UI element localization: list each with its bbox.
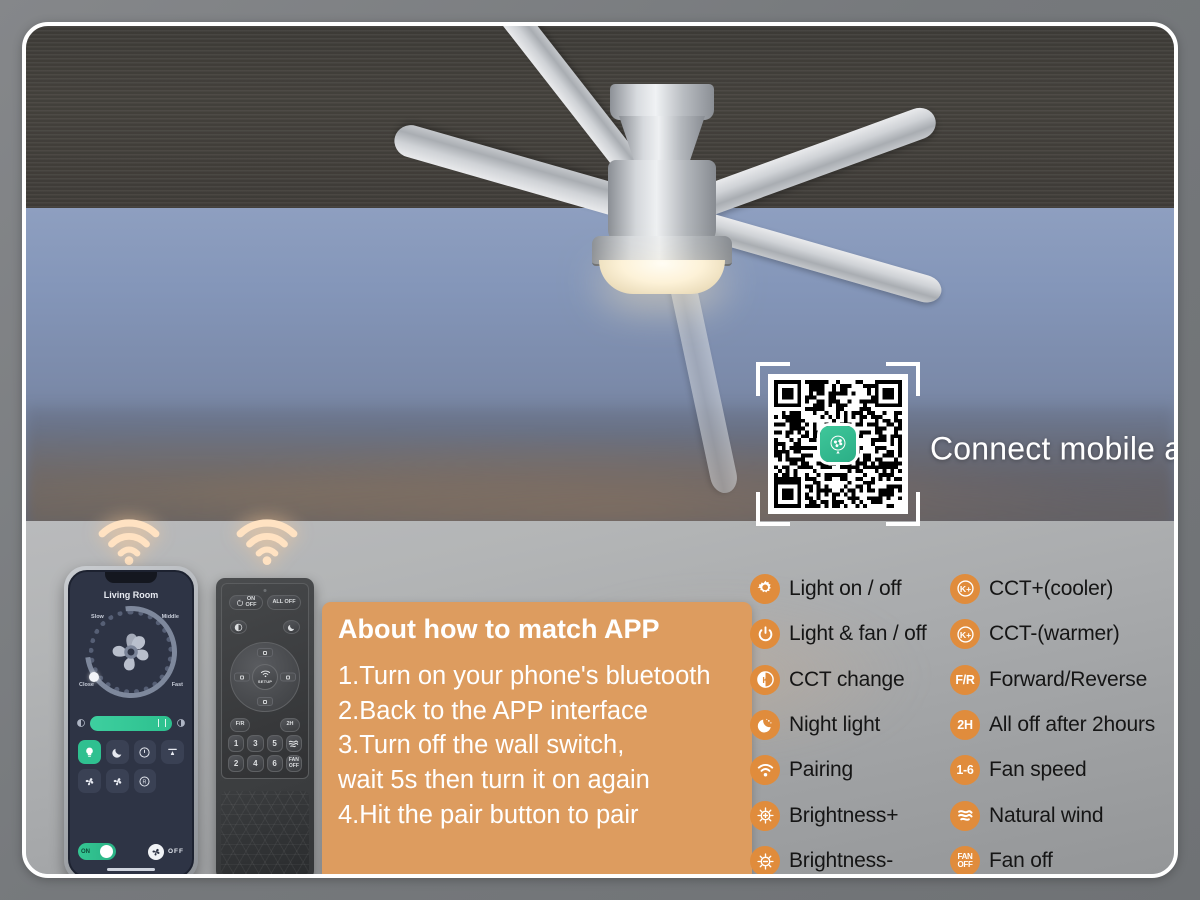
remote-left-key[interactable] bbox=[234, 673, 250, 682]
legend-icon-glyph: 1-6 bbox=[956, 763, 973, 777]
legend-item-forward-reverse: F/R Forward/Reverse bbox=[950, 657, 1178, 702]
two-hour-timer-icon: 2H bbox=[950, 710, 980, 740]
room-title: Living Room bbox=[70, 590, 192, 600]
legend-label: Fan off bbox=[989, 849, 1053, 873]
legend-item-cct-change: K CCT change bbox=[750, 657, 946, 702]
legend-label: Brightness+ bbox=[789, 804, 898, 828]
dial-label-fast: Fast bbox=[172, 682, 183, 688]
instructions-title: About how to match APP bbox=[338, 614, 736, 645]
legend-icon-glyph: 2H bbox=[957, 718, 972, 732]
instruction-step: 2.Back to the APP interface bbox=[338, 694, 736, 729]
remote-num-3[interactable]: 3 bbox=[247, 735, 263, 752]
moon-night-icon bbox=[750, 710, 780, 740]
legend-item-night-light: Night light bbox=[750, 702, 946, 747]
svg-text:K+: K+ bbox=[959, 584, 970, 594]
bulb-icon bbox=[83, 746, 96, 759]
wifi-signal-icon bbox=[234, 514, 300, 566]
legend-item-natural-wind: Natural wind bbox=[950, 793, 1178, 838]
timer-button[interactable] bbox=[134, 740, 157, 764]
phone-notch bbox=[105, 572, 157, 583]
remote-cct-key[interactable] bbox=[230, 620, 247, 634]
light-button[interactable] bbox=[78, 740, 101, 764]
cct-minus-icon: K+ bbox=[950, 619, 980, 649]
legend-label: All off after 2hours bbox=[989, 713, 1155, 737]
brightness-slider[interactable] bbox=[90, 716, 172, 731]
sun-plus-icon bbox=[750, 801, 780, 831]
button-legend: Light on / off Light & fan / off K bbox=[750, 566, 1178, 878]
remote-num-2[interactable]: 2 bbox=[228, 755, 244, 772]
fan-speed-button[interactable] bbox=[78, 769, 101, 793]
legend-label: Light on / off bbox=[789, 577, 901, 601]
fan-wind-icon bbox=[111, 775, 124, 788]
natural-wind-button[interactable] bbox=[106, 769, 129, 793]
remote-wind-key[interactable] bbox=[286, 735, 302, 752]
moon-icon bbox=[111, 746, 124, 759]
light-gear-icon bbox=[750, 574, 780, 604]
cct-button[interactable] bbox=[161, 740, 184, 764]
legend-icon-glyph: FANOFF bbox=[957, 853, 972, 869]
fan-blades-graphic bbox=[100, 621, 162, 683]
natural-wind-icon bbox=[288, 739, 299, 748]
remote-all-off-key[interactable]: ALL OFF bbox=[267, 595, 301, 610]
remote-forward-reverse-key[interactable]: F/R bbox=[230, 718, 250, 732]
timer-icon bbox=[138, 746, 151, 759]
fan-motor-housing bbox=[608, 160, 716, 244]
remote-num-1[interactable]: 1 bbox=[228, 735, 244, 752]
smartphone-mockup: Living Room bbox=[64, 566, 198, 878]
pairing-instructions-panel: About how to match APP 1.Turn on your ph… bbox=[322, 602, 752, 878]
legend-label: Night light bbox=[789, 713, 880, 737]
fan-app-icon bbox=[820, 426, 856, 462]
dial-label-slow: Slow bbox=[91, 614, 104, 620]
remote-down-key[interactable] bbox=[257, 697, 273, 706]
qr-code-image bbox=[768, 374, 908, 514]
instruction-step: wait 5s then turn it on again bbox=[338, 763, 736, 798]
cct-plus-icon: K+ bbox=[950, 574, 980, 604]
brightness-high-icon bbox=[176, 718, 186, 728]
fan-off-icon bbox=[148, 844, 164, 860]
wifi-icon bbox=[260, 670, 271, 678]
reverse-icon: R bbox=[138, 775, 151, 788]
remote-night-key[interactable] bbox=[283, 620, 300, 634]
fan-icon bbox=[83, 775, 96, 788]
fan-off-label: OFF bbox=[168, 848, 184, 855]
instruction-step: 4.Hit the pair button to pair bbox=[338, 798, 736, 833]
remote-grip-texture bbox=[221, 791, 309, 875]
brightness-low-icon bbox=[76, 718, 86, 728]
remote-2h-key[interactable]: 2H bbox=[280, 718, 300, 732]
qr-code-box[interactable] bbox=[768, 374, 908, 514]
legend-icon-glyph: F/R bbox=[955, 673, 974, 687]
ceiling-fan-product bbox=[262, 78, 1062, 318]
app-bottom-bar: ON OFF bbox=[78, 843, 184, 860]
legend-label: CCT+(cooler) bbox=[989, 577, 1113, 601]
cct-icon bbox=[166, 746, 179, 759]
remote-on-off-key[interactable]: ON OFF bbox=[229, 595, 263, 610]
brightness-slider-row bbox=[76, 714, 186, 732]
instruction-step: 3.Turn off the wall switch, bbox=[338, 728, 736, 763]
forward-reverse-icon: F/R bbox=[950, 665, 980, 695]
remote-up-key[interactable] bbox=[257, 648, 273, 657]
legend-item-cct-plus: K+ CCT+(cooler) bbox=[950, 566, 1178, 611]
remote-fan-off-key[interactable]: FAN OFF bbox=[286, 755, 302, 772]
app-button-grid: R bbox=[78, 740, 184, 793]
remote-num-5[interactable]: 5 bbox=[267, 735, 283, 752]
sun-minus-icon bbox=[750, 846, 780, 876]
instruction-step: 1.Turn on your phone's bluetooth bbox=[338, 659, 736, 694]
remote-right-key[interactable] bbox=[280, 673, 296, 682]
cct-half-k-icon: K bbox=[750, 665, 780, 695]
dial-label-close: Close bbox=[79, 682, 94, 688]
svg-text:K+: K+ bbox=[959, 629, 970, 639]
night-light-button[interactable] bbox=[106, 740, 129, 764]
photo-frame: Connect mobile app bbox=[22, 22, 1178, 878]
legend-item-pairing: Pairing bbox=[750, 748, 946, 793]
remote-key-line2: OFF bbox=[246, 602, 257, 608]
natural-wind-icon bbox=[950, 801, 980, 831]
remote-num-4[interactable]: 4 bbox=[247, 755, 263, 772]
home-indicator bbox=[107, 868, 155, 871]
fan-off-icon: FANOFF bbox=[950, 846, 980, 876]
legend-label: Natural wind bbox=[989, 804, 1103, 828]
svg-text:R: R bbox=[143, 779, 147, 785]
legend-item-brightness-up: Brightness+ bbox=[750, 793, 946, 838]
dial-handle[interactable] bbox=[89, 672, 99, 682]
fan-off-control[interactable]: OFF bbox=[148, 844, 184, 860]
legend-item-light-fan-off: Light & fan / off bbox=[750, 611, 946, 656]
legend-item-light-on-off: Light on / off bbox=[750, 566, 946, 611]
fan-speed-dial[interactable]: Slow Middle Close Fast bbox=[77, 606, 185, 702]
legend-label: Pairing bbox=[789, 758, 853, 782]
wifi-pairing-icon bbox=[750, 755, 780, 785]
legend-label: Light & fan / off bbox=[789, 622, 926, 646]
remote-num-6[interactable]: 6 bbox=[267, 755, 283, 772]
remote-setup-key[interactable]: SETUP bbox=[252, 664, 278, 690]
legend-item-fan-off: FANOFF Fan off bbox=[950, 839, 1178, 878]
infographic-root: Connect mobile app bbox=[0, 0, 1200, 900]
qr-caption: Connect mobile app bbox=[930, 431, 1178, 468]
qr-section: Connect mobile app bbox=[768, 374, 1178, 524]
legend-label: CCT-(warmer) bbox=[989, 622, 1120, 646]
legend-item-brightness-down: Brightness- bbox=[750, 839, 946, 878]
remote-number-grid: 1 3 5 2 4 6 FAN bbox=[228, 735, 302, 772]
legend-label: CCT change bbox=[789, 668, 905, 692]
toggle-on-label: ON bbox=[81, 849, 90, 855]
remote-dpad[interactable]: SETUP bbox=[230, 642, 300, 712]
fan-canopy bbox=[610, 84, 714, 120]
power-toggle[interactable]: ON bbox=[78, 843, 116, 860]
remote-ir-led bbox=[264, 589, 267, 592]
legend-label: Forward/Reverse bbox=[989, 668, 1147, 692]
remote-keypad-body: ON OFF ALL OFF bbox=[221, 583, 309, 779]
remote-control: ON OFF ALL OFF bbox=[216, 578, 314, 878]
power-icon bbox=[750, 619, 780, 649]
dial-label-middle: Middle bbox=[162, 614, 179, 620]
app-screen: Living Room bbox=[68, 570, 194, 878]
toggle-knob bbox=[100, 845, 113, 858]
wifi-signal-icon bbox=[96, 514, 162, 566]
remote-setup-label: SETUP bbox=[258, 679, 272, 684]
legend-item-fan-speed: 1-6 Fan speed bbox=[950, 748, 1178, 793]
fan-speed-range-icon: 1-6 bbox=[950, 755, 980, 785]
reverse-button[interactable]: R bbox=[134, 769, 157, 793]
legend-item-2h-timer: 2H All off after 2hours bbox=[950, 702, 1178, 747]
legend-label: Brightness- bbox=[789, 849, 893, 873]
remote-fan-off-line2: OFF bbox=[289, 763, 299, 769]
svg-text:K: K bbox=[762, 675, 769, 685]
legend-label: Fan speed bbox=[989, 758, 1086, 782]
led-light-lens bbox=[599, 260, 725, 294]
legend-item-cct-minus: K+ CCT-(warmer) bbox=[950, 611, 1178, 656]
